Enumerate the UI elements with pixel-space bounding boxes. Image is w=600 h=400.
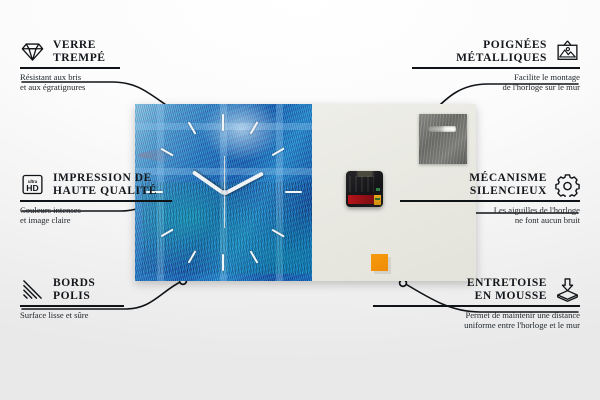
callout-poignees-metalliques: POIGNÉES MÉTALLIQUES Facilite le montage… bbox=[412, 39, 580, 93]
callout-impression-haute-qualite: ultra HD IMPRESSION DE HAUTE QUALITÉ Cou… bbox=[20, 172, 200, 226]
callout-header: ultra HD IMPRESSION DE HAUTE QUALITÉ bbox=[20, 172, 200, 197]
callout-title: IMPRESSION DE HAUTE QUALITÉ bbox=[53, 172, 157, 197]
ultra-hd-icon-bottom-text: HD bbox=[26, 183, 38, 193]
callout-title: POIGNÉES MÉTALLIQUES bbox=[456, 39, 547, 64]
callout-subtitle: Permet de maintenir une distance uniform… bbox=[373, 310, 580, 331]
callout-divider bbox=[373, 305, 580, 307]
mechanism-texture bbox=[349, 176, 374, 192]
callout-mecanisme-silencieux: MÉCANISME SILENCIEUX Les aiguilles de l'… bbox=[400, 172, 580, 226]
callout-subtitle: Les aiguilles de l'horloge ne font aucun… bbox=[400, 205, 580, 226]
callout-header: POIGNÉES MÉTALLIQUES bbox=[412, 39, 580, 64]
ultra-hd-icon: ultra HD bbox=[20, 172, 45, 197]
callout-verre-trempe: VERRE TREMPÉ Résistant aux bris et aux é… bbox=[20, 39, 188, 93]
gear-icon bbox=[555, 172, 580, 197]
clock-center-pin bbox=[222, 190, 227, 195]
callout-subtitle: Résistant aux bris et aux égratignures bbox=[20, 72, 188, 93]
callout-title: ENTRETOISE EN MOUSSE bbox=[467, 277, 547, 302]
callout-divider bbox=[412, 67, 580, 69]
callout-bords-polis: BORDS POLIS Surface lisse et sûre bbox=[20, 277, 188, 320]
polished-edge-icon bbox=[20, 277, 45, 302]
callout-header: ENTRETOISE EN MOUSSE bbox=[373, 277, 580, 302]
callout-divider bbox=[400, 200, 580, 202]
infographic-canvas: VERRE TREMPÉ Résistant aux bris et aux é… bbox=[0, 0, 600, 400]
diamond-icon bbox=[20, 39, 45, 64]
callout-title: VERRE TREMPÉ bbox=[53, 39, 106, 64]
mechanism-led bbox=[376, 188, 380, 191]
callout-subtitle: Facilite le montage de l'horloge sur le … bbox=[412, 72, 580, 93]
callout-divider bbox=[20, 305, 124, 307]
callout-header: VERRE TREMPÉ bbox=[20, 39, 188, 64]
callout-subtitle: Couleurs intenses et image claire bbox=[20, 205, 200, 226]
callout-entretoise-en-mousse: ENTRETOISE EN MOUSSE Permet de maintenir… bbox=[373, 277, 580, 331]
foam-spacer-icon bbox=[555, 277, 580, 302]
callout-header: MÉCANISME SILENCIEUX bbox=[400, 172, 580, 197]
callout-subtitle: Surface lisse et sûre bbox=[20, 310, 188, 321]
hanger-keyhole-slot bbox=[428, 126, 457, 132]
foam-spacer-pad bbox=[371, 254, 388, 271]
mechanism-battery-marker bbox=[374, 195, 381, 205]
callout-divider bbox=[20, 200, 172, 202]
decor-arrow-shape bbox=[139, 148, 174, 162]
clock-mechanism bbox=[346, 171, 383, 207]
picture-hanger-icon bbox=[555, 39, 580, 64]
callout-title: MÉCANISME SILENCIEUX bbox=[469, 172, 547, 197]
callout-header: BORDS POLIS bbox=[20, 277, 188, 302]
metal-hanger-plate bbox=[419, 114, 467, 164]
decor-highlight bbox=[185, 104, 298, 175]
callout-title: BORDS POLIS bbox=[53, 277, 95, 302]
callout-divider bbox=[20, 67, 120, 69]
